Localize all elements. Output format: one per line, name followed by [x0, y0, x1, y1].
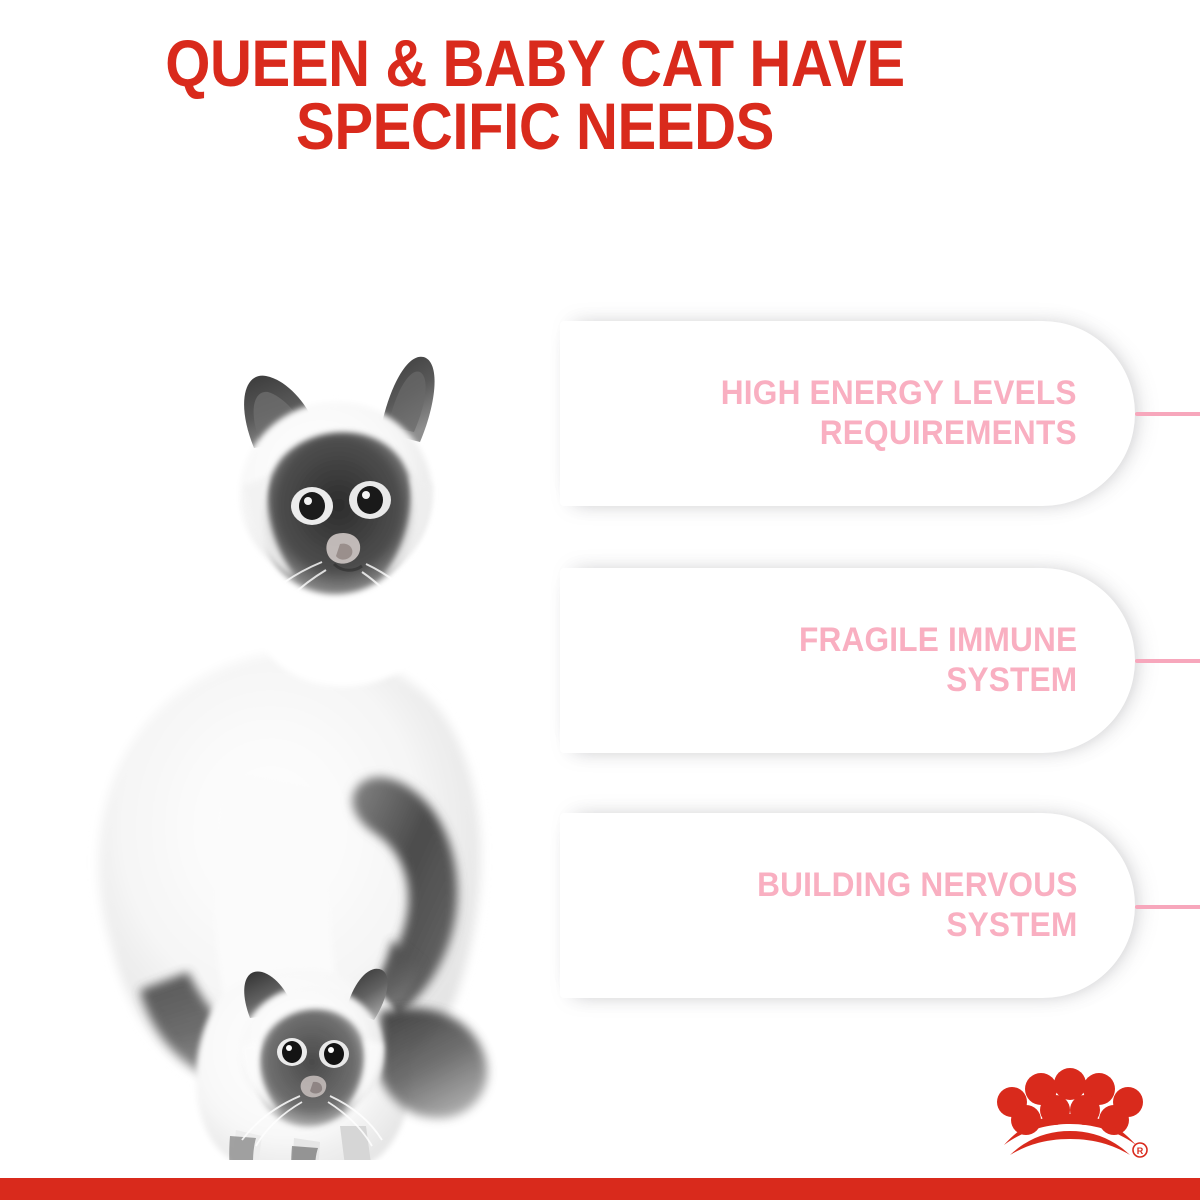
- royal-canin-crown-logo: R: [990, 1060, 1150, 1165]
- page-title: QUEEN & BABY CAT HAVE SPECIFIC NEEDS: [64, 32, 1006, 157]
- connector-line-3: [1135, 905, 1200, 909]
- benefit-card-high-energy[interactable]: HIGH ENERGY LEVELS REQUIREMENTS: [560, 321, 1135, 506]
- benefit-card-label: BUILDING NERVOUS SYSTEM: [757, 866, 1077, 945]
- svg-text:R: R: [1137, 1146, 1144, 1156]
- benefit-card-label: HIGH ENERGY LEVELS REQUIREMENTS: [721, 374, 1077, 453]
- benefit-card-building-nervous-system[interactable]: BUILDING NERVOUS SYSTEM: [560, 813, 1135, 998]
- registered-trademark-icon: R: [1133, 1143, 1147, 1157]
- connector-line-1: [1135, 412, 1200, 416]
- cat-and-kitten-photo: [40, 300, 640, 1160]
- poster-canvas: QUEEN & BABY CAT HAVE SPECIFIC NEEDS: [0, 0, 1200, 1200]
- footer-accent-bar: [0, 1178, 1200, 1200]
- connector-line-2: [1135, 659, 1200, 663]
- benefit-card-fragile-immune-system[interactable]: FRAGILE IMMUNE SYSTEM: [560, 568, 1135, 753]
- benefit-card-label: FRAGILE IMMUNE SYSTEM: [799, 621, 1077, 700]
